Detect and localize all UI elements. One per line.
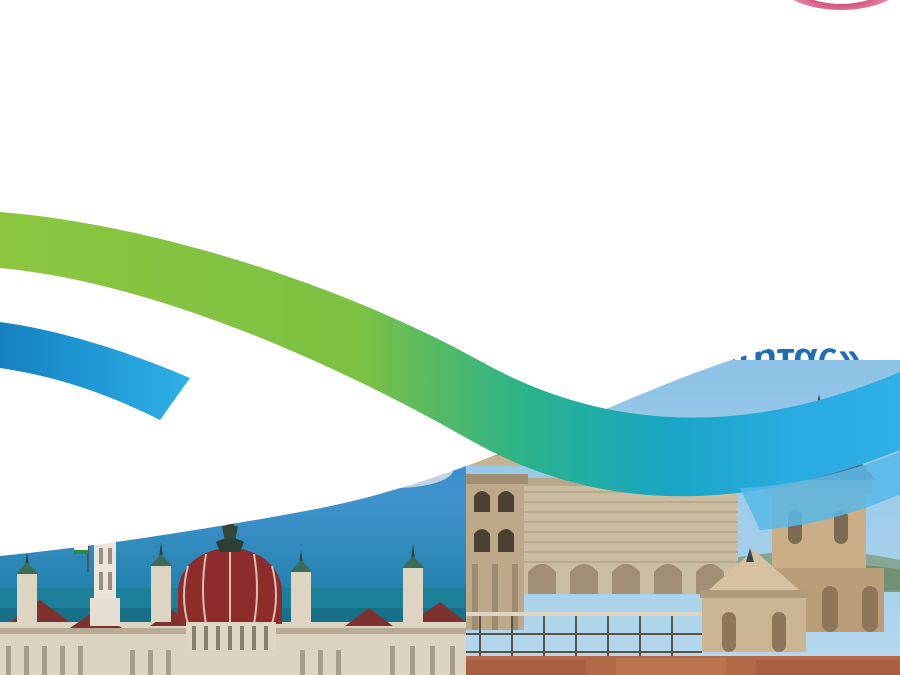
emblem-star-green (176, 153, 190, 166)
person-figure (252, 35, 286, 129)
cordoba-photo-svg (466, 360, 900, 675)
skills-logo: SKILLS Enhancing our abilities and skill… (100, 148, 265, 298)
title-line-1: «Βελτιώνοντας (380, 12, 860, 65)
skills-tagline: Enhancing our abilities and skills throu… (119, 276, 247, 308)
title-line-2: τις ικανότητες (380, 65, 860, 118)
person-figure (175, 34, 204, 130)
photo-mezquita-cathedral-cordoba (466, 360, 900, 675)
people-illustration (42, 26, 322, 140)
europe-map-illustration (40, 0, 330, 14)
title-line-6: ευρωπαϊκής (380, 278, 860, 331)
title-line-4: μέσω (380, 172, 860, 225)
person-figure (212, 34, 246, 129)
person-figure (128, 35, 162, 129)
title-line-3: και τις δεξιότητες (380, 118, 860, 171)
emblem-figure (168, 174, 205, 216)
poster-root: SKILLS Enhancing our abilities and skill… (0, 0, 900, 675)
map-countries (190, 0, 312, 6)
map-svg (40, 0, 330, 14)
skills-emblem-icon (123, 148, 243, 240)
people-svg (42, 26, 322, 140)
skills-wordmark: SKILLS (100, 238, 265, 271)
title-line-5: της δημιουργικής (380, 225, 860, 278)
budapest-photo-svg (0, 360, 466, 675)
page-title: «Βελτιώνοντας τις ικανότητες και τις δεξ… (380, 12, 860, 384)
photo-band (0, 360, 900, 675)
photo-hungarian-parliament-budapest (0, 360, 466, 675)
person-figure (53, 36, 79, 129)
person-figure (288, 34, 322, 130)
person-figure (93, 35, 121, 130)
terracotta-roofs (466, 656, 900, 675)
bell-tower (466, 434, 528, 630)
